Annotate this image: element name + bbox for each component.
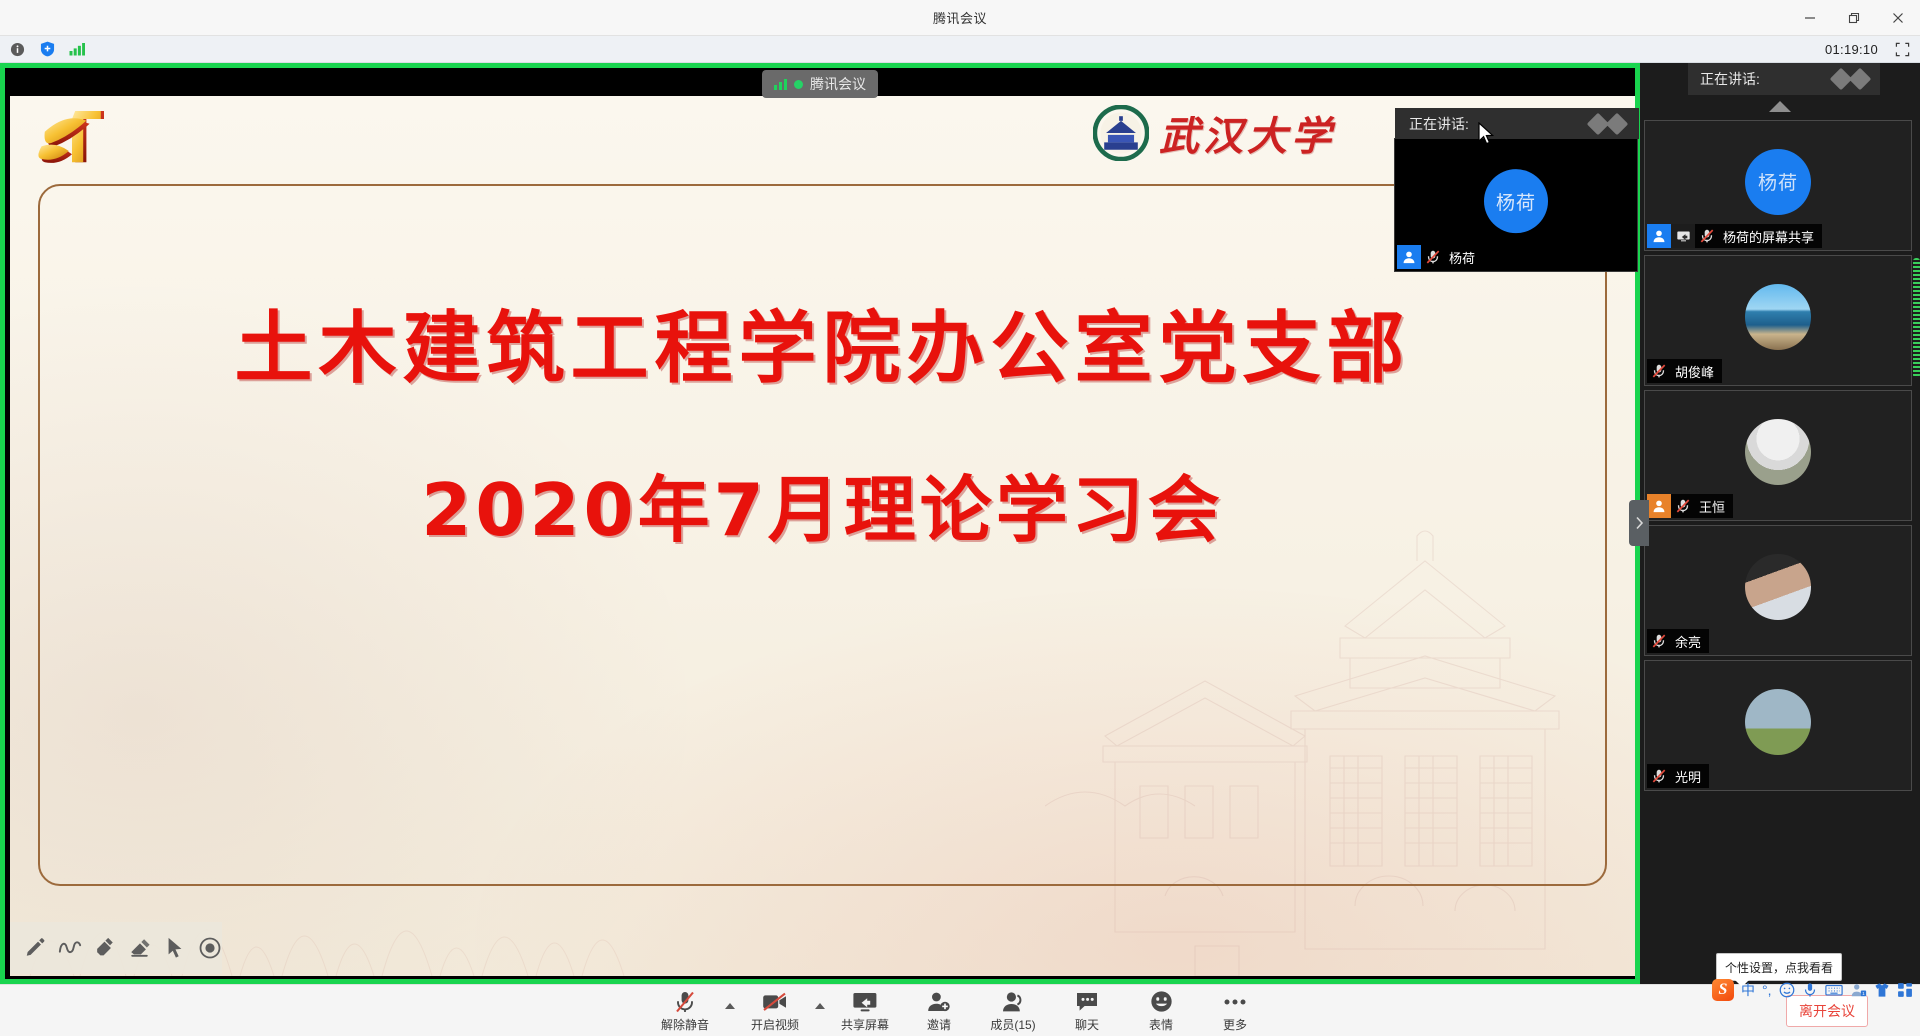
triangle-up-icon[interactable] [1769, 101, 1791, 112]
list-item[interactable]: 光明 [1644, 660, 1912, 791]
meeting-controls-group: 解除静音 开启视频 共享屏幕 邀请 [648, 985, 1272, 1036]
punctuation-icon[interactable]: °, [1762, 982, 1772, 998]
highlighter-icon[interactable] [92, 935, 117, 961]
info-icon[interactable] [8, 40, 26, 58]
list-item[interactable]: 胡俊峰 [1644, 255, 1912, 386]
sharing-pill-label: 腾讯会议 [810, 74, 866, 94]
more-icon [1223, 990, 1247, 1014]
mic-muted-icon [1647, 359, 1671, 383]
emoji-icon [1150, 990, 1173, 1014]
avatar [1745, 689, 1811, 755]
avatar: 杨荷 [1484, 169, 1548, 233]
participant-name: 王恒 [1695, 497, 1733, 516]
eraser-icon[interactable] [127, 935, 152, 961]
annotation-toolbar [10, 922, 222, 974]
avatar-photo [1745, 419, 1811, 485]
pointer-icon[interactable] [162, 935, 187, 961]
status-bar-right: 01:19:10 [1819, 38, 1920, 60]
video-off-icon [762, 990, 788, 1014]
more-label: 更多 [1223, 1016, 1247, 1033]
university-name: 武汉大学 [1159, 104, 1335, 162]
members-label: 成员(15) [990, 1016, 1035, 1033]
pen-icon[interactable] [22, 935, 47, 961]
participant-name: 胡俊峰 [1671, 362, 1722, 381]
meeting-window: 腾讯会议 [0, 0, 1920, 1036]
whu-seal-icon [1093, 105, 1149, 161]
floating-participant-name: 杨荷 [1445, 248, 1483, 267]
window-title: 腾讯会议 [933, 8, 987, 27]
mute-toggle-button[interactable]: 解除静音 [648, 985, 722, 1036]
participant-name-chip: 光明 [1647, 764, 1709, 788]
host-badge-icon [1397, 245, 1421, 269]
recording-dot-icon [794, 80, 803, 89]
avatar [1745, 419, 1811, 485]
mic-muted-icon [1671, 494, 1695, 518]
collapse-panel-button[interactable] [1629, 500, 1649, 546]
avatar [1745, 284, 1811, 350]
host-badge-icon [1647, 224, 1671, 248]
invite-button[interactable]: 邀请 [902, 985, 976, 1036]
emoji-icon[interactable] [1779, 982, 1795, 998]
signal-bars-icon[interactable] [68, 40, 86, 58]
sogou-logo-icon[interactable]: S [1712, 979, 1734, 1001]
emoji-label: 表情 [1149, 1016, 1173, 1033]
participant-list: 杨荷 杨荷的屏幕共享 [1644, 120, 1916, 984]
participant-name-chip: 王恒 [1647, 494, 1733, 518]
caret-up-icon [725, 1003, 735, 1009]
emoji-button[interactable]: 表情 [1124, 985, 1198, 1036]
more-button[interactable]: 更多 [1198, 985, 1272, 1036]
minimize-button[interactable] [1788, 0, 1832, 36]
fullscreen-icon[interactable] [1890, 38, 1914, 60]
participant-rail: 正在讲话: 杨荷 杨 [1640, 63, 1920, 984]
voice-input-icon[interactable] [1802, 982, 1818, 998]
university-logo: 武汉大学 [1093, 104, 1335, 162]
rail-speaking-header: 正在讲话: [1688, 63, 1880, 95]
mic-muted-icon [1421, 245, 1445, 269]
share-screen-label: 共享屏幕 [841, 1016, 889, 1033]
close-button[interactable] [1876, 0, 1920, 36]
avatar-initials: 杨荷 [1745, 149, 1811, 215]
soft-keyboard-icon[interactable] [1825, 983, 1843, 997]
audio-options-caret[interactable] [722, 985, 738, 1036]
floating-speaking-header: 正在讲话: [1395, 108, 1639, 139]
maximize-restore-button[interactable] [1832, 0, 1876, 36]
chevron-right-icon [1635, 516, 1644, 530]
screen-share-icon [1671, 224, 1695, 248]
floating-speaker-panel[interactable]: 正在讲话: 杨荷 杨荷 [1394, 138, 1638, 272]
chat-icon [1075, 990, 1099, 1014]
mute-toggle-label: 解除静音 [661, 1016, 709, 1033]
presentation-slide: 武汉大学 土木建筑工程学院办公室党支部 2020年7月理论学习会 [10, 96, 1635, 976]
avatar [1745, 554, 1811, 620]
rail-speaking-label: 正在讲话: [1700, 69, 1760, 89]
rail-scrollbar[interactable] [1913, 258, 1920, 378]
audio-wave-icon [1590, 116, 1625, 132]
meeting-controls-bar: 解除静音 开启视频 共享屏幕 邀请 [0, 984, 1920, 1036]
participant-name-chip: 杨荷的屏幕共享 [1647, 224, 1822, 248]
laser-pointer-icon[interactable] [197, 935, 222, 961]
speaking-label: 正在讲话: [1409, 114, 1469, 134]
floating-name-chip: 杨荷 [1397, 245, 1483, 269]
participant-name: 光明 [1671, 767, 1709, 786]
list-item[interactable]: 杨荷 杨荷的屏幕共享 [1644, 120, 1912, 251]
audio-wave-icon [1833, 71, 1868, 87]
window-titlebar: 腾讯会议 [0, 0, 1920, 36]
ccp-party-emblem [32, 106, 112, 172]
mouse-cursor [1478, 122, 1495, 146]
mic-muted-icon [674, 990, 696, 1014]
list-item[interactable]: 王恒 [1644, 390, 1912, 521]
meeting-status-bar: 01:19:10 [0, 36, 1920, 63]
scribble-icon[interactable] [57, 935, 82, 961]
skin-icon[interactable] [1874, 982, 1890, 998]
cohost-badge-icon [1647, 494, 1671, 518]
participant-name-chip: 胡俊峰 [1647, 359, 1722, 383]
participant-name: 杨荷的屏幕共享 [1719, 227, 1822, 246]
list-item[interactable]: 余亮 [1644, 525, 1912, 656]
share-screen-icon [852, 990, 878, 1014]
chat-button[interactable]: 聊天 [1050, 985, 1124, 1036]
avatar-photo [1745, 554, 1811, 620]
avatar-photo [1745, 689, 1811, 755]
video-toggle-label: 开启视频 [751, 1016, 799, 1033]
avatar: 杨荷 [1745, 149, 1811, 215]
status-icon-group [0, 40, 86, 58]
chat-label: 聊天 [1075, 1016, 1099, 1033]
invite-label: 邀请 [927, 1016, 951, 1033]
avatar-photo [1745, 284, 1811, 350]
chinese-mode-icon[interactable]: 中 [1741, 980, 1755, 1000]
window-controls [1788, 0, 1920, 36]
invite-icon [927, 990, 951, 1014]
meeting-timer: 01:19:10 [1819, 41, 1884, 58]
mic-muted-icon [1647, 764, 1671, 788]
participant-name-chip: 余亮 [1647, 629, 1709, 653]
caret-up-icon [815, 1003, 825, 1009]
participant-name: 余亮 [1671, 632, 1709, 651]
mic-muted-icon [1647, 629, 1671, 653]
mic-muted-icon [1695, 224, 1719, 248]
video-options-caret[interactable] [812, 985, 828, 1036]
shield-icon[interactable] [38, 40, 56, 58]
members-button[interactable]: 成员(15) [976, 985, 1050, 1036]
user-center-icon[interactable]: 1 [1850, 982, 1867, 998]
video-toggle-button[interactable]: 开启视频 [738, 985, 812, 1036]
sogou-ime-toolbar: S 中 °, 1 [1712, 977, 1913, 1003]
members-icon [1001, 990, 1025, 1014]
toolbox-icon[interactable] [1897, 982, 1913, 998]
slide-decorative-frame [38, 184, 1607, 886]
signal-bars-icon [774, 78, 787, 90]
sharing-indicator-pill[interactable]: 腾讯会议 [762, 70, 878, 98]
share-screen-button[interactable]: 共享屏幕 [828, 985, 902, 1036]
